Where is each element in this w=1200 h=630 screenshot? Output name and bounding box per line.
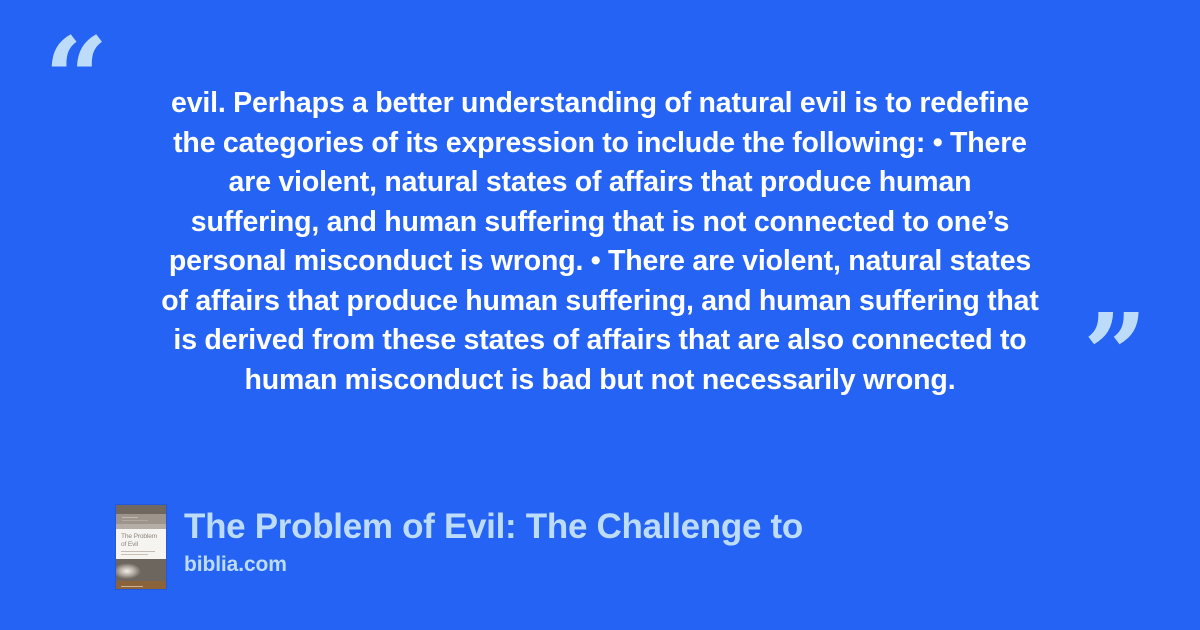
source-site: biblia.com [184,552,803,578]
book-cover-thumbnail: The Problem of Evil [116,505,166,589]
cover-byline-rule-2 [121,554,148,555]
quote-card: “ evil. Perhaps a better understanding o… [0,0,1200,630]
cover-title-line-1: The Problem [121,533,157,541]
cover-byline-rule-1 [121,551,155,552]
quote-text: evil. Perhaps a better understanding of … [118,84,1082,400]
quote-block: evil. Perhaps a better understanding of … [118,84,1082,400]
source-attribution: The Problem of Evil The Problem of Evil:… [116,505,803,589]
cover-author-rule [121,586,143,588]
cover-band-top-mid [116,514,166,524]
cover-photo-band [116,559,166,581]
source-title: The Problem of Evil: The Challenge to [184,506,803,548]
source-text-group: The Problem of Evil: The Challenge to bi… [184,505,803,578]
cover-title-line-2: of Evil [121,541,138,549]
cover-subtitle-rule-1 [122,517,138,518]
opening-quote-icon: “ [44,24,106,136]
cover-subtitle-rule-2 [122,520,148,521]
closing-quote-icon: ” [1083,300,1145,412]
cover-band-top-dark [116,505,166,514]
